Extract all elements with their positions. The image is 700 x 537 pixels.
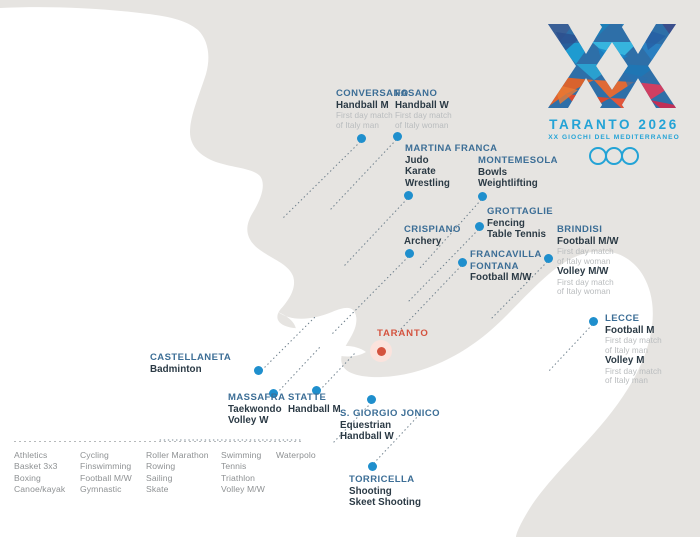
legend-item: Canoe/kayak xyxy=(14,484,80,495)
logo-rings xyxy=(538,146,690,166)
taranto-label: TARANTO xyxy=(377,328,429,339)
venue-note: First day matchof Italy woman xyxy=(395,111,452,130)
venue-grottaglie[interactable]: GROTTAGLIE Fencing Table Tennis xyxy=(487,206,553,241)
map-infographic: TARANTO 2026 XX GIOCHI DEL MEDITERRANEO … xyxy=(0,0,700,537)
taranto-marker[interactable] xyxy=(370,340,392,362)
venue-sport: Handball M xyxy=(288,404,341,416)
venue-sport: Shooting xyxy=(349,486,421,498)
legend-item: Athletics xyxy=(14,450,80,461)
legend-item: Tennis xyxy=(221,461,276,472)
legend-item: Swimming xyxy=(221,450,276,461)
games-logo: TARANTO 2026 XX GIOCHI DEL MEDITERRANEO xyxy=(538,18,690,163)
dot-grottaglie[interactable] xyxy=(475,222,484,231)
dot-castellaneta[interactable] xyxy=(254,366,263,375)
venue-name: CASTELLANETA xyxy=(150,352,249,364)
venue-note: First day matchof Italy woman xyxy=(557,278,619,297)
venue-name: FRANCAVILLAFONTANA xyxy=(470,249,542,272)
venue-name: S. GIORGIO JONICO xyxy=(340,408,440,420)
venue-sport: Badminton xyxy=(150,364,249,376)
dot-s-giorgio-jonico[interactable] xyxy=(367,395,376,404)
venue-statte[interactable]: STATTE Handball M xyxy=(288,392,341,415)
dot-brindisi[interactable] xyxy=(544,254,553,263)
dot-montemesola[interactable] xyxy=(478,192,487,201)
dot-lecce[interactable] xyxy=(589,317,598,326)
venue-sport: Fencing xyxy=(487,218,553,230)
legend-item: Skate xyxy=(146,484,221,495)
legend-item: Boxing xyxy=(14,473,80,484)
legend-item: Football M/W xyxy=(80,473,146,484)
legend-column: Swimming Tennis Triathlon Volley M/W xyxy=(221,450,276,496)
legend-item: Cycling xyxy=(80,450,146,461)
legend-item: Gymnastic xyxy=(80,484,146,495)
venue-note: First day matchof Italy woman xyxy=(557,247,619,266)
venue-name: CRISPIANO xyxy=(404,224,461,236)
venue-crispiano[interactable]: CRISPIANO Archery xyxy=(404,224,461,247)
logo-wordmark: TARANTO 2026 xyxy=(538,117,690,132)
venue-sport: Football M/W xyxy=(470,272,542,284)
venue-name: MARTINA FRANCA xyxy=(405,143,498,155)
venue-s-giorgio-jonico[interactable]: S. GIORGIO JONICO Equestrian Handball W xyxy=(340,408,440,443)
legend-column: Roller Marathon Rowing Sailing Skate xyxy=(146,450,221,496)
venue-sport: Football M/W xyxy=(557,236,619,248)
venue-name: TORRICELLA xyxy=(349,474,421,486)
venue-note: First day matchof Italy man xyxy=(605,367,662,386)
venue-sport: Volley M/W xyxy=(557,266,619,278)
legend-column: Athletics Basket 3x3 Boxing Canoe/kayak xyxy=(14,450,80,496)
xx-facets xyxy=(538,18,690,114)
venue-massafra[interactable]: MASSAFRA Taekwondo Volley W xyxy=(228,392,285,427)
venue-brindisi[interactable]: BRINDISI Football M/W First day matchof … xyxy=(557,224,619,297)
dot-fasano[interactable] xyxy=(393,132,402,141)
dot-torricella[interactable] xyxy=(368,462,377,471)
xx-mosaic-icon xyxy=(538,18,690,114)
venue-sport: Archery xyxy=(404,236,461,248)
venue-note: First day matchof Italy man xyxy=(605,336,662,355)
venue-fasano[interactable]: FASANO Handball W First day matchof Ital… xyxy=(395,88,452,130)
legend-item: Volley M/W xyxy=(221,484,276,495)
dot-francavilla-fontana[interactable] xyxy=(458,258,467,267)
venue-francavilla-fontana[interactable]: FRANCAVILLAFONTANA Football M/W xyxy=(470,249,542,284)
three-rings-icon xyxy=(585,146,643,166)
venue-name: MONTEMESOLA xyxy=(478,155,558,167)
legend-item: Rowing xyxy=(146,461,221,472)
venue-sport: Handball W xyxy=(395,100,452,112)
venue-sport: Taekwondo xyxy=(228,404,285,416)
legend-divider xyxy=(14,441,304,442)
venue-montemesola[interactable]: MONTEMESOLA Bowls Weightlifting xyxy=(478,155,558,190)
legend-item: Basket 3x3 xyxy=(14,461,80,472)
venue-name: FASANO xyxy=(395,88,452,100)
legend-item: Finswimming xyxy=(80,461,146,472)
venue-torricella[interactable]: TORRICELLA Shooting Skeet Shooting xyxy=(349,474,421,509)
venue-sport: Weightlifting xyxy=(478,178,558,190)
venue-lecce[interactable]: LECCE Football M First day matchof Italy… xyxy=(605,313,662,386)
venue-sport: Equestrian xyxy=(340,420,440,432)
venue-sport: Table Tennis xyxy=(487,229,553,241)
logo-subtitle: XX GIOCHI DEL MEDITERRANEO xyxy=(538,134,690,141)
taranto-dot xyxy=(377,347,386,356)
venue-sport: Football M xyxy=(605,325,662,337)
legend-item: Roller Marathon xyxy=(146,450,221,461)
sports-legend: Athletics Basket 3x3 Boxing Canoe/kayak … xyxy=(14,450,316,496)
venue-name: LECCE xyxy=(605,313,662,325)
dot-martina-franca[interactable] xyxy=(404,191,413,200)
venue-name: MASSAFRA xyxy=(228,392,285,404)
legend-item: Sailing xyxy=(146,473,221,484)
legend-column: Waterpolo xyxy=(276,450,316,496)
venue-sport: Skeet Shooting xyxy=(349,497,421,509)
venue-sport: Bowls xyxy=(478,167,558,179)
venue-castellaneta[interactable]: CASTELLANETA Badminton xyxy=(150,352,249,375)
venue-name: BRINDISI xyxy=(557,224,619,236)
venue-name: GROTTAGLIE xyxy=(487,206,553,218)
legend-column: Cycling Finswimming Football M/W Gymnast… xyxy=(80,450,146,496)
venue-sport: Volley W xyxy=(228,415,285,427)
dot-conversano[interactable] xyxy=(357,134,366,143)
venue-sport: Volley M xyxy=(605,355,662,367)
venue-sport: Handball W xyxy=(340,431,440,443)
dot-crispiano[interactable] xyxy=(405,249,414,258)
venue-name: STATTE xyxy=(288,392,341,404)
legend-item: Triathlon xyxy=(221,473,276,484)
legend-item: Waterpolo xyxy=(276,450,316,461)
